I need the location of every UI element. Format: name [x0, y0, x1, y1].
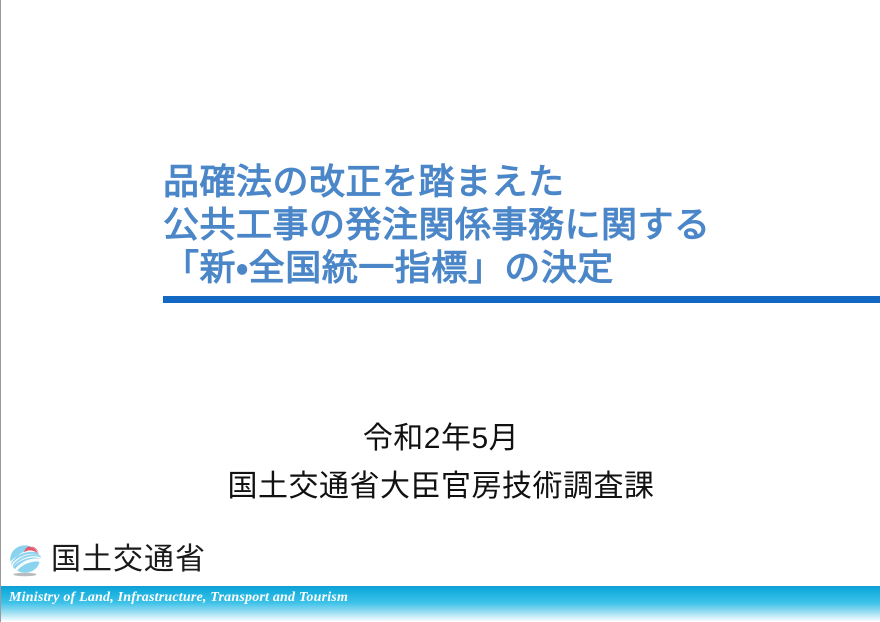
presentation-slide: 品確法の改正を踏まえた 公共工事の発注関係事務に関する 「新・全国統一指標」の決… [0, 0, 880, 622]
mlit-swirl-emblem-icon [7, 542, 43, 578]
title-underline-rule [163, 296, 880, 303]
ministry-logo-lockup: 国土交通省 [1, 535, 206, 585]
title-line-1: 品確法の改正を踏まえた [163, 160, 880, 203]
ministry-name-jp: 国土交通省 [51, 543, 206, 577]
title-line-2: 公共工事の発注関係事務に関する [163, 203, 880, 246]
subtitle-date: 令和2年5月 [1, 415, 880, 463]
slide-footer: 国土交通省 Ministry of Land, Infrastructure, … [1, 535, 880, 622]
slide-subtitle: 令和2年5月 国土交通省大臣官房技術調査課 [1, 415, 880, 511]
ministry-name-en: Ministry of Land, Infrastructure, Transp… [9, 590, 348, 606]
title-line-3: 「新・全国統一指標」の決定 [163, 246, 880, 289]
subtitle-organization: 国土交通省大臣官房技術調査課 [1, 463, 880, 511]
slide-title: 品確法の改正を踏まえた 公共工事の発注関係事務に関する 「新・全国統一指標」の決… [163, 160, 880, 289]
